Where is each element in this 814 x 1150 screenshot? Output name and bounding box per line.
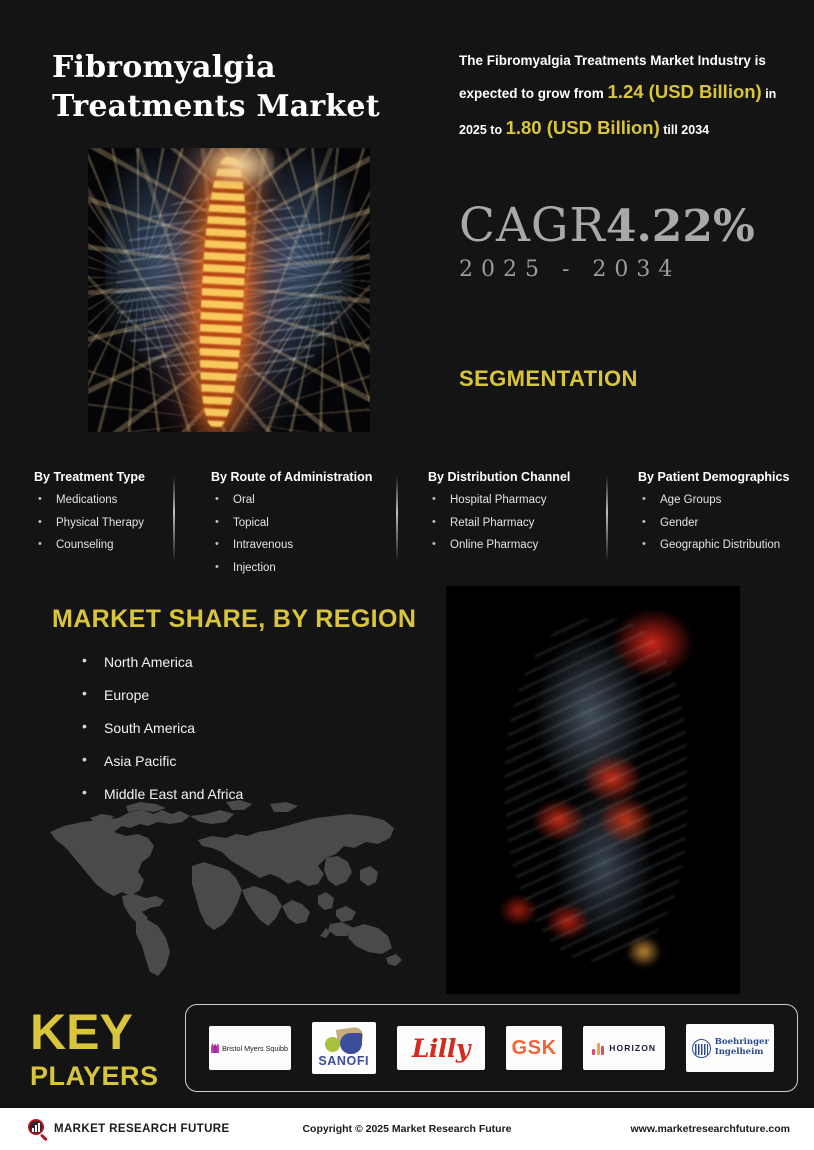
page-title: Fibromyalgia Treatments Market	[52, 48, 432, 126]
segment-column-treatment-type: By Treatment Type Medications Physical T…	[34, 470, 145, 563]
summary-line-3a: 2025 to	[459, 123, 506, 137]
footer-website-url[interactable]: www.marketresearchfuture.com	[630, 1123, 790, 1135]
summary-line-3b: till 2034	[660, 123, 709, 137]
pain-figure-image	[446, 586, 740, 994]
footer-copyright: Copyright © 2025 Market Research Future	[302, 1123, 511, 1135]
pain-sheen-layer	[505, 619, 687, 962]
list-item: Hospital Pharmacy	[428, 495, 570, 507]
logo-label: GSK	[511, 1037, 556, 1060]
logo-sanofi: SANOFI	[312, 1022, 376, 1074]
list-item: Gender	[638, 518, 789, 530]
market-research-future-logo-icon	[28, 1119, 48, 1139]
summary-line-1: The Fibromyalgia Treatments Market Indus…	[459, 53, 766, 68]
segmentation-columns: By Treatment Type Medications Physical T…	[0, 470, 814, 580]
key-players-title: KEY PLAYERS	[30, 1008, 159, 1089]
segment-heading: By Treatment Type	[34, 470, 145, 484]
footer-brand: MARKET RESEARCH FUTURE	[28, 1119, 230, 1139]
boehringer-ingelheim-icon	[692, 1039, 711, 1058]
list-item: Oral	[211, 495, 372, 507]
segment-column-distribution-channel: By Distribution Channel Hospital Pharmac…	[428, 470, 570, 563]
segment-divider	[173, 476, 175, 562]
list-item: Topical	[211, 518, 372, 530]
segment-column-patient-demographics: By Patient Demographics Age Groups Gende…	[638, 470, 789, 563]
list-item: Middle East and Africa	[78, 787, 243, 801]
footer: MARKET RESEARCH FUTURE Copyright © 2025 …	[0, 1108, 814, 1150]
list-item: Medications	[34, 495, 145, 507]
market-summary-text: The Fibromyalgia Treatments Market Indus…	[459, 48, 789, 146]
cagr-value: 4.22%	[606, 201, 755, 252]
segment-heading: By Distribution Channel	[428, 470, 570, 484]
cagr-label: CAGR	[459, 198, 606, 253]
bristol-myers-squibb-icon	[211, 1043, 219, 1053]
list-item: Injection	[211, 563, 372, 575]
segment-divider	[396, 476, 398, 562]
footer-brand-label: MARKET RESEARCH FUTURE	[54, 1123, 230, 1135]
value-2034: 1.80 (USD Billion)	[506, 117, 660, 138]
logo-lilly: Lilly	[397, 1026, 485, 1070]
list-item: Europe	[78, 688, 243, 702]
key-players-logo-box: Bristol Myers Squibb SANOFI Lilly GSK	[185, 1004, 798, 1092]
key-players-title-line2: PLAYERS	[30, 1063, 159, 1089]
segmentation-title: SEGMENTATION	[459, 366, 638, 392]
logo-label: HORIZON	[609, 1043, 656, 1053]
list-item: Online Pharmacy	[428, 540, 570, 552]
summary-line-2a: expected to grow from	[459, 86, 608, 101]
list-item: Intravenous	[211, 540, 372, 552]
list-item: Age Groups	[638, 495, 789, 507]
logo-boehringer-ingelheim: Boehringer Ingelheim	[686, 1024, 774, 1072]
region-list: North America Europe South America Asia …	[78, 655, 243, 820]
segment-divider	[606, 476, 608, 562]
logo-bristol-myers-squibb: Bristol Myers Squibb	[209, 1026, 291, 1070]
segment-list: Age Groups Gender Geographic Distributio…	[638, 495, 789, 552]
market-share-title: MARKET SHARE, BY REGION	[52, 605, 416, 634]
list-item: Physical Therapy	[34, 518, 145, 530]
horizon-icon	[592, 1041, 604, 1055]
logo-horizon: HORIZON	[583, 1026, 665, 1070]
cagr-year-range: 2025 - 2034	[459, 257, 680, 282]
list-item: North America	[78, 655, 243, 669]
infographic-page: Fibromyalgia Treatments Market The Fibro…	[0, 0, 814, 1150]
cagr-block: CAGR4.22%	[459, 198, 755, 253]
list-item: Retail Pharmacy	[428, 518, 570, 530]
list-item: South America	[78, 721, 243, 735]
list-item: Geographic Distribution	[638, 540, 789, 552]
hero-spine-image	[88, 148, 370, 432]
logo-label: SANOFI	[318, 1054, 369, 1068]
value-2025: 1.24 (USD Billion)	[608, 81, 762, 102]
logo-label: Bristol Myers Squibb	[222, 1044, 288, 1053]
logo-label-line1: Boehringer	[715, 1037, 769, 1047]
list-item: Asia Pacific	[78, 754, 243, 768]
segment-column-route-of-administration: By Route of Administration Oral Topical …	[211, 470, 372, 585]
world-map	[30, 800, 412, 980]
sanofi-icon	[325, 1028, 363, 1054]
logo-label-line2: Ingelheim	[715, 1047, 764, 1057]
summary-line-2b: in	[762, 87, 777, 101]
segment-list: Hospital Pharmacy Retail Pharmacy Online…	[428, 495, 570, 552]
logo-label: Lilly	[412, 1034, 470, 1063]
segment-list: Medications Physical Therapy Counseling	[34, 495, 145, 552]
key-players-title-line1: KEY	[30, 1008, 159, 1057]
segment-list: Oral Topical Intravenous Injection	[211, 495, 372, 574]
segment-heading: By Route of Administration	[211, 470, 372, 484]
list-item: Counseling	[34, 540, 145, 552]
segment-heading: By Patient Demographics	[638, 470, 789, 484]
logo-gsk: GSK	[506, 1026, 562, 1070]
hero-skull-layer	[206, 148, 274, 185]
